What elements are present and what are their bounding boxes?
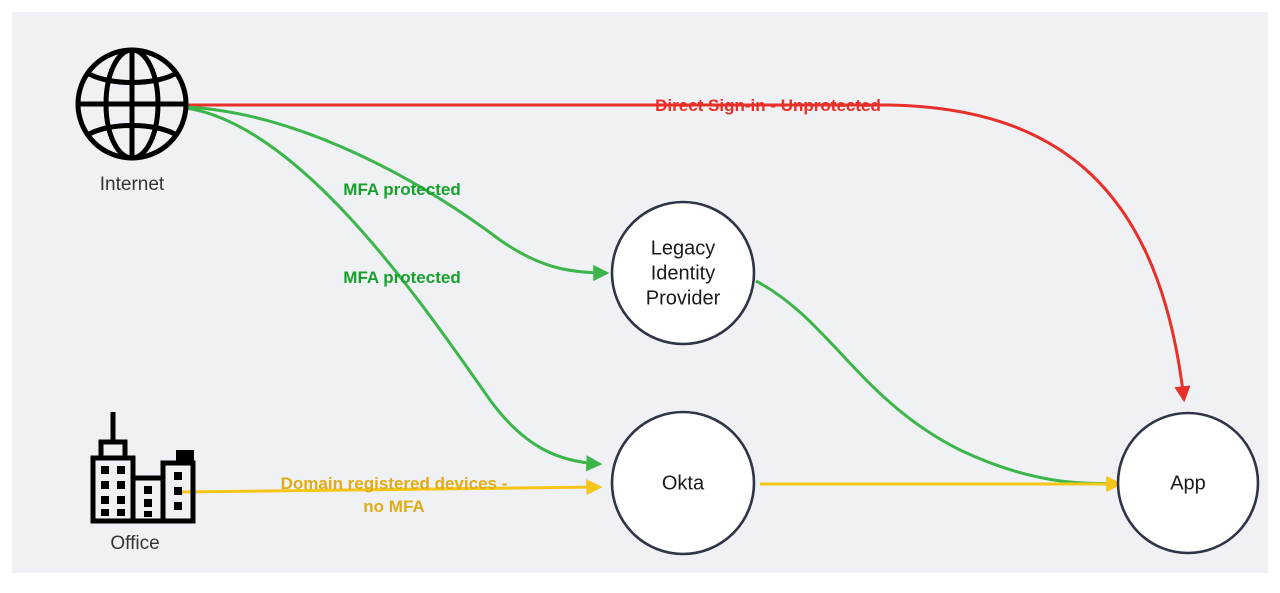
node-legacy-identity-provider[interactable]: Legacy Identity Provider — [612, 202, 754, 344]
endpoint-label-office: Office — [110, 533, 159, 554]
edge-label-mfa-protected-okta: MFA protected — [343, 268, 460, 287]
edge-label-mfa-protected-legacy: MFA protected — [343, 180, 460, 199]
endpoint-label-internet: Internet — [100, 174, 165, 195]
edge-label-domain-devices-line2: no MFA — [363, 497, 424, 516]
node-okta[interactable]: Okta — [612, 412, 754, 554]
edge-label-domain-devices-line1: Domain registered devices - — [281, 474, 508, 493]
node-app[interactable]: App — [1118, 413, 1258, 553]
edge-label-direct-signin: Direct Sign-in - Unprotected — [655, 96, 881, 115]
node-label-legacy-idp-line2: Identity — [651, 262, 715, 284]
office-building-icon — [91, 412, 195, 521]
node-label-legacy-idp-line3: Provider — [646, 287, 721, 309]
edge-office-to-okta: Domain registered devices - no MFA — [178, 474, 600, 516]
edge-internet-to-okta: MFA protected — [186, 108, 600, 464]
edge-path-legacy-idp-app — [756, 281, 1120, 484]
node-label-app: App — [1170, 472, 1206, 494]
node-label-okta: Okta — [662, 472, 705, 494]
globe-icon — [78, 50, 186, 158]
diagram-root: Direct Sign-in - Unprotected MFA protect… — [0, 0, 1280, 593]
diagram-scene: Direct Sign-in - Unprotected MFA protect… — [0, 0, 1280, 593]
edge-legacy-idp-to-app — [756, 281, 1120, 484]
node-label-legacy-idp-line1: Legacy — [651, 237, 716, 259]
